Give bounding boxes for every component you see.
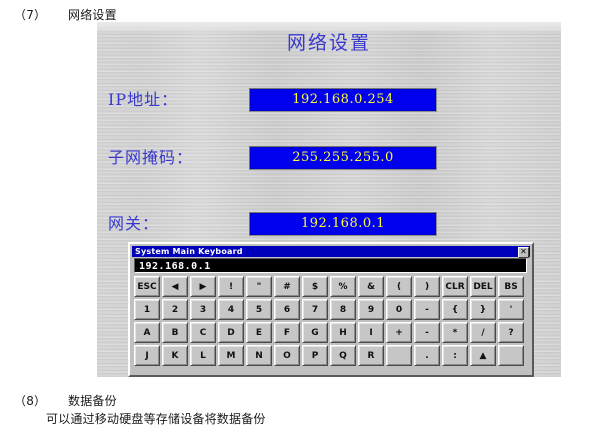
doc-item-7-text: 网络设置 (68, 8, 117, 22)
key-1-1-0[interactable]: 1 (134, 299, 160, 320)
key-b-2-1[interactable]: B (162, 322, 188, 343)
doc-item-8-detail: 可以通过移动硬盘等存储设备将数据备份 (46, 410, 266, 427)
key-l-3-2[interactable]: L (190, 345, 216, 366)
key-sym-2-11[interactable]: * (442, 322, 468, 343)
key-sym-2-10[interactable]: - (414, 322, 440, 343)
keyboard-keys-grid: ESC◀▶!"#$%&()CLRDELBS1234567890-{}'ABCDE… (134, 276, 532, 368)
input-subnet-mask[interactable]: 255.255.255.0 (249, 146, 437, 170)
key-7-1-6[interactable]: 7 (302, 299, 328, 320)
key-sym-1-13[interactable]: ' (498, 299, 524, 320)
key-sym-1-12[interactable]: } (470, 299, 496, 320)
key-sym-3-12[interactable]: ▲ (470, 345, 496, 366)
keyboard-title-label: System Main Keyboard (132, 246, 243, 257)
key-4-1-3[interactable]: 4 (218, 299, 244, 320)
key-3-1-2[interactable]: 3 (190, 299, 216, 320)
key-8-1-7[interactable]: 8 (330, 299, 356, 320)
key-d-2-3[interactable]: D (218, 322, 244, 343)
key-sym-0-7[interactable]: % (330, 276, 356, 297)
key-5-1-4[interactable]: 5 (246, 299, 272, 320)
key-sym-2-9[interactable]: + (386, 322, 412, 343)
key-sym-0-5[interactable]: # (274, 276, 300, 297)
close-icon[interactable]: ✕ (518, 247, 529, 258)
doc-item-7-number: （7） (14, 6, 68, 23)
key-g-2-6[interactable]: G (302, 322, 328, 343)
key-j-3-0[interactable]: J (134, 345, 160, 366)
key-m-3-3[interactable]: M (218, 345, 244, 366)
key-sym-1-11[interactable]: { (442, 299, 468, 320)
key-9-1-8[interactable]: 9 (358, 299, 384, 320)
key-e-2-4[interactable]: E (246, 322, 272, 343)
key-sym-0-4[interactable]: " (246, 276, 272, 297)
input-ip-address[interactable]: 192.168.0.254 (249, 88, 437, 112)
doc-item-8: （8）数据备份 (14, 392, 117, 409)
key-sym-0-9[interactable]: ( (386, 276, 412, 297)
key-q-3-7[interactable]: Q (330, 345, 356, 366)
key-sym-3-11[interactable]: : (442, 345, 468, 366)
keyboard-display-input[interactable]: 192.168.0.1 (134, 258, 527, 273)
doc-item-7: （7）网络设置 (14, 6, 117, 23)
key-sym-0-2[interactable]: ▶ (190, 276, 216, 297)
page-title: 网络设置 (97, 28, 561, 55)
key-sym-0-6[interactable]: $ (302, 276, 328, 297)
input-gateway[interactable]: 192.168.0.1 (249, 212, 437, 236)
label-ip-address: IP地址： (108, 88, 178, 112)
key-6-1-5[interactable]: 6 (274, 299, 300, 320)
key-i-2-8[interactable]: I (358, 322, 384, 343)
key-sym-0-1[interactable]: ◀ (162, 276, 188, 297)
key-del-0-12[interactable]: DEL (470, 276, 496, 297)
doc-item-8-number: （8） (14, 392, 68, 409)
key-p-3-6[interactable]: P (302, 345, 328, 366)
key-a-2-0[interactable]: A (134, 322, 160, 343)
key-sym-2-12[interactable]: / (470, 322, 496, 343)
system-main-keyboard-dialog: System Main Keyboard ✕ 192.168.0.1 ESC◀▶… (128, 242, 534, 377)
keyboard-titlebar[interactable]: System Main Keyboard ✕ (132, 246, 530, 257)
key-f-2-5[interactable]: F (274, 322, 300, 343)
form-row-gateway: 网关： 192.168.0.1 (97, 212, 561, 238)
key-r-3-8[interactable]: R (358, 345, 384, 366)
keyboard-row-3: ABCDEFGHI+-*/? (134, 322, 532, 343)
key-sym-0-10[interactable]: ) (414, 276, 440, 297)
key-o-3-5[interactable]: O (274, 345, 300, 366)
key-sym-2-13[interactable]: ? (498, 322, 524, 343)
key-2-1-1[interactable]: 2 (162, 299, 188, 320)
keyboard-row-2: 1234567890-{}' (134, 299, 532, 320)
key-k-3-1[interactable]: K (162, 345, 188, 366)
key-blank-3-13[interactable] (498, 345, 524, 366)
key-c-2-2[interactable]: C (190, 322, 216, 343)
key-bs-0-13[interactable]: BS (498, 276, 524, 297)
key-0-1-9[interactable]: 0 (386, 299, 412, 320)
form-row-subnet-mask: 子网掩码： 255.255.255.0 (97, 146, 561, 172)
key-clr-0-11[interactable]: CLR (442, 276, 468, 297)
key-sym-0-8[interactable]: & (358, 276, 384, 297)
key-sym-1-10[interactable]: - (414, 299, 440, 320)
key-esc-0-0[interactable]: ESC (134, 276, 160, 297)
keyboard-row-1: ESC◀▶!"#$%&()CLRDELBS (134, 276, 532, 297)
form-row-ip-address: IP地址： 192.168.0.254 (97, 88, 561, 114)
key-n-3-4[interactable]: N (246, 345, 272, 366)
doc-item-8-text: 数据备份 (68, 394, 117, 408)
key-blank-3-9[interactable] (386, 345, 412, 366)
key-h-2-7[interactable]: H (330, 322, 356, 343)
label-gateway: 网关： (108, 212, 159, 236)
key-sym-0-3[interactable]: ! (218, 276, 244, 297)
key-sym-3-10[interactable]: . (414, 345, 440, 366)
keyboard-row-4: JKLMNOPQR .:▲ (134, 345, 532, 366)
label-subnet-mask: 子网掩码： (108, 146, 193, 170)
